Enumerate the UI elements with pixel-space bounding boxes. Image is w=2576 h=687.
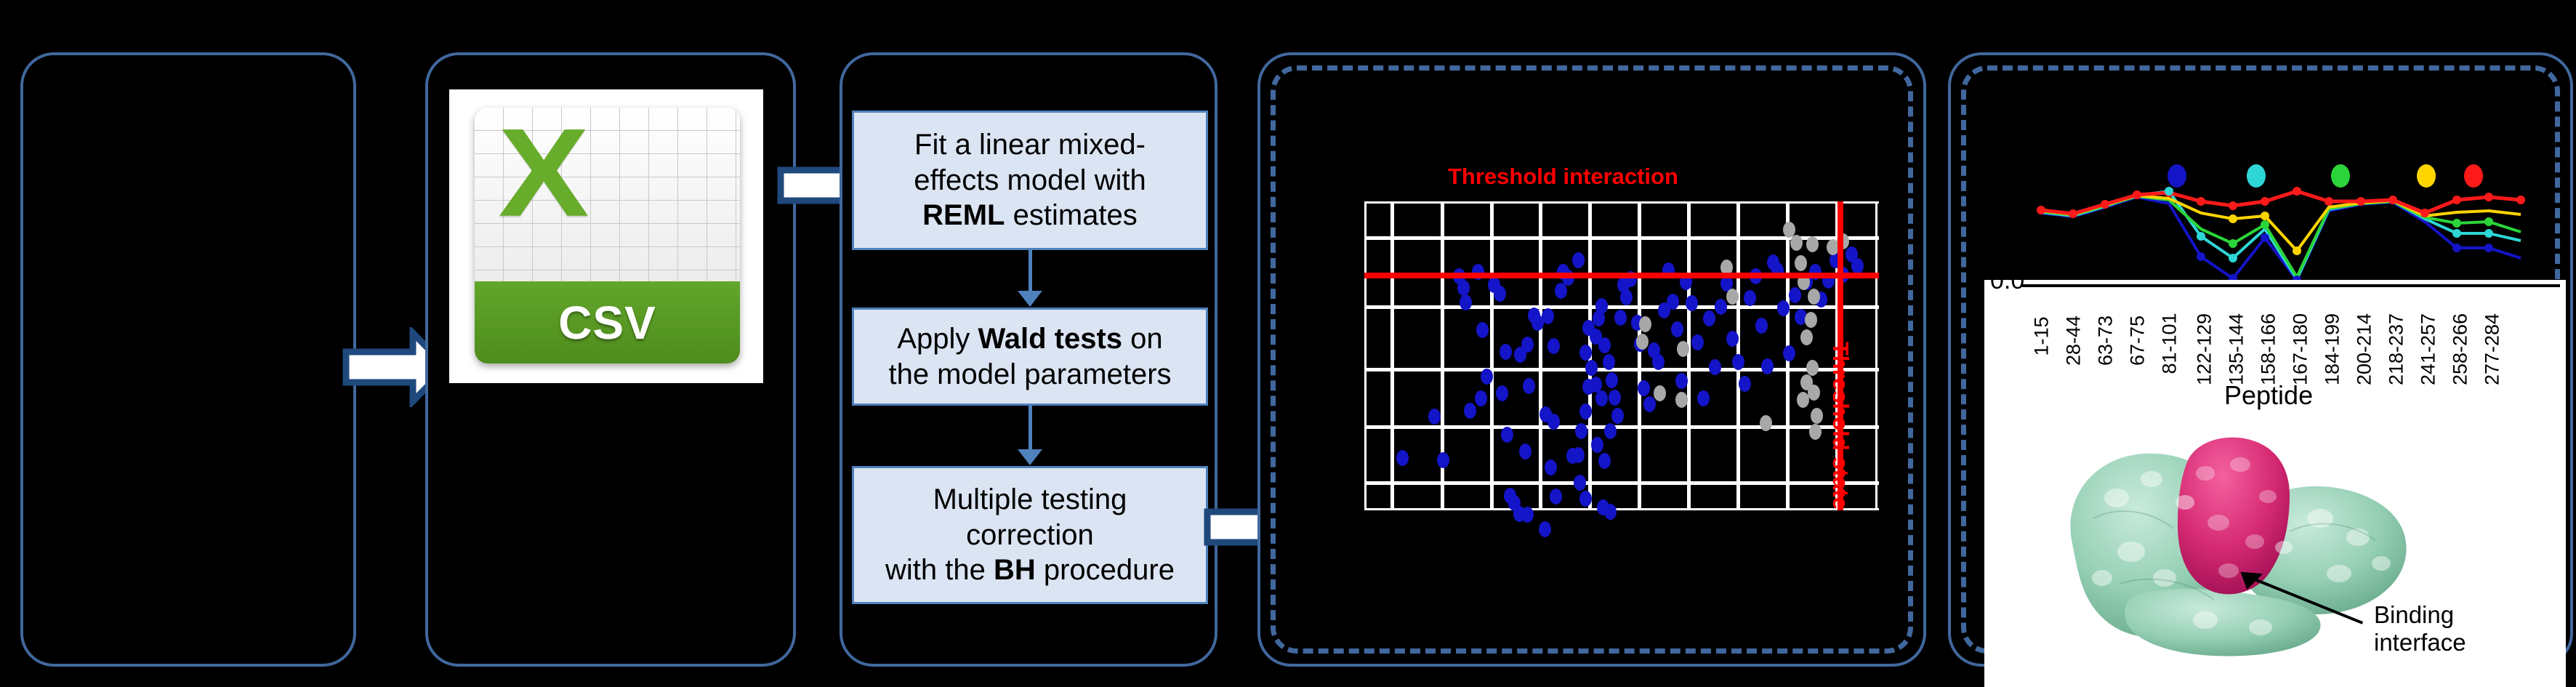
step-1-emphasis: REML xyxy=(922,199,1005,231)
x-tick-13: 258-266 xyxy=(2450,302,2472,397)
step-3-line-1: Multiple testing xyxy=(933,483,1127,515)
protein-surface-structure xyxy=(2050,409,2428,671)
connector-1-arrowhead xyxy=(1018,291,1042,307)
x-tick-14: 277-284 xyxy=(2482,302,2504,397)
workflow-diagram: X CSV Fit a linear mixed- effects model … xyxy=(0,0,2576,687)
step-3-pre: with the xyxy=(885,554,994,586)
binding-interface-label: Binding interface xyxy=(2374,601,2466,656)
step-3-post: procedure xyxy=(1036,554,1175,586)
legend-dot-state-3 xyxy=(2331,164,2350,188)
threshold-scatter-plot xyxy=(1364,201,1879,510)
step-2-pre: Apply xyxy=(897,323,978,355)
legend-dot-state-1 xyxy=(2168,164,2186,188)
legend-dot-state-2 xyxy=(2247,164,2266,188)
csv-label-band: CSV xyxy=(475,281,740,363)
threshold-interaction-line xyxy=(1364,273,1879,278)
x-axis-line xyxy=(2022,284,2560,287)
x-tick-9: 184-199 xyxy=(2322,302,2344,397)
x-tick-5: 122-129 xyxy=(2194,302,2216,397)
connector-1 xyxy=(1029,250,1032,297)
x-tick-12: 241-257 xyxy=(2418,302,2440,397)
step-3-emphasis: BH xyxy=(994,554,1036,586)
x-tick-2: 63-73 xyxy=(2095,301,2117,381)
csv-x-letter: X xyxy=(486,118,603,251)
x-axis-title: Peptide xyxy=(2224,380,2313,411)
step-wald-tests[interactable]: Apply Wald tests on the model parameters xyxy=(852,308,1208,406)
step-1-line-3-post: estimates xyxy=(1005,199,1138,231)
csv-file-icon[interactable]: X CSV xyxy=(475,108,740,363)
y-axis-tick-0: 0.0 xyxy=(1990,267,2024,295)
step-1-line-1: Fit a linear mixed- xyxy=(914,129,1146,161)
x-tick-11: 218-237 xyxy=(2386,302,2408,397)
peptide-line-chart xyxy=(2028,171,2566,280)
x-tick-1: 28-44 xyxy=(2063,301,2085,381)
input-panel xyxy=(20,52,356,667)
step-2-post: on xyxy=(1122,323,1163,355)
x-tick-4: 81-101 xyxy=(2159,304,2181,384)
threshold-interaction-label: Threshold interaction xyxy=(1448,164,1678,190)
step-2-emphasis: Wald tests xyxy=(978,323,1123,355)
binding-interface-line-1: Binding xyxy=(2374,601,2454,628)
structure-image-sheet: 0.0 1-15 28-44 63-73 67-75 81-101 122-12… xyxy=(1984,280,2566,687)
x-tick-labels: 1-15 28-44 63-73 67-75 81-101 122-129 13… xyxy=(2022,290,2560,385)
x-tick-0: 1-15 xyxy=(2031,297,2053,377)
connector-2-arrowhead xyxy=(1018,449,1042,465)
csv-label: CSV xyxy=(558,296,656,350)
step-fit-model[interactable]: Fit a linear mixed- effects model with R… xyxy=(852,111,1208,250)
x-tick-10: 200-214 xyxy=(2354,302,2376,397)
step-bh-correction[interactable]: Multiple testing correction with the BH … xyxy=(852,466,1208,604)
connector-2 xyxy=(1029,406,1032,455)
x-tick-3: 67-75 xyxy=(2127,301,2149,381)
binding-interface-line-2: interface xyxy=(2374,629,2466,656)
threshold-state-label: Threshold state xyxy=(1827,342,1853,510)
step-2-tail: the model parameters xyxy=(888,358,1171,390)
legend-dot-state-4 xyxy=(2417,164,2436,188)
legend-dot-state-5 xyxy=(2464,164,2483,188)
step-1-line-2: effects model with xyxy=(914,164,1146,196)
step-3-line-2: correction xyxy=(966,519,1094,551)
